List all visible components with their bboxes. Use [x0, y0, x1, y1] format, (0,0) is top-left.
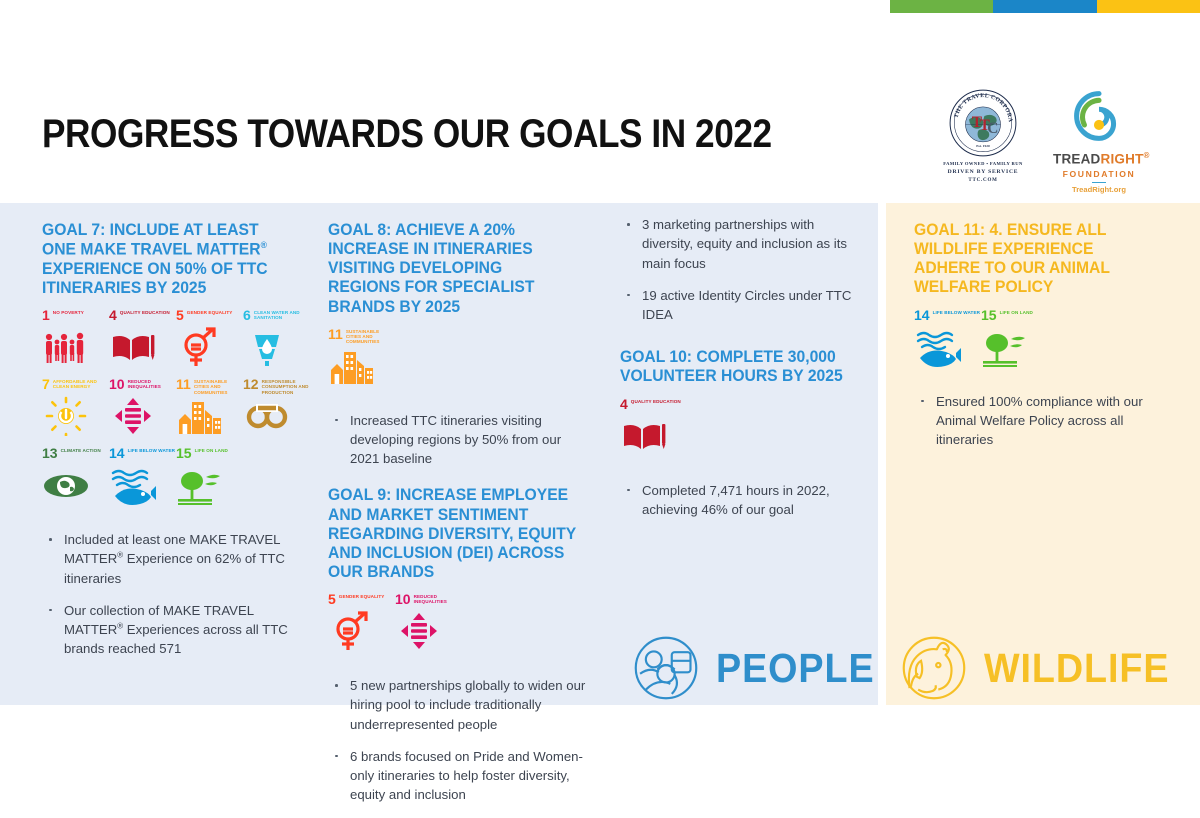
wildlife-brand-lockup: WILDLIFE	[898, 632, 1186, 704]
bullet-item: 5 new partnerships globally to widen our…	[328, 676, 590, 734]
goal-7-heading: GOAL 7: INCLUDE AT LEAST ONE MAKE TRAVEL…	[42, 221, 297, 298]
bullet-item: 3 marketing partnerships with diversity,…	[620, 215, 860, 273]
sdg-art-5	[328, 611, 376, 651]
sdg-number-11: 11	[328, 328, 343, 340]
ttc-established: Est. 1920	[976, 144, 990, 148]
treadright-word-1: TREAD	[1053, 152, 1101, 167]
logo-group: T T C THE TRAVEL CORPORATION Est. 1920 F…	[939, 88, 1145, 194]
ttc-tagline-2: DRIVEN BY SERVICE	[939, 168, 1027, 178]
sdg-icon-12: 12RESPONSIBLE CONSUMPTION AND PRODUCTION	[243, 378, 310, 436]
sdg-icon-5: 5GENDER EQUALITY	[176, 309, 243, 367]
sdg-art-5	[176, 327, 224, 367]
sdg-label-4: QUALITY EDUCATION	[120, 309, 170, 315]
treadright-swirl-icon	[1071, 88, 1127, 144]
bullet-item: Completed 7,471 hours in 2022, achieving…	[620, 481, 860, 520]
people-column-1: GOAL 7: INCLUDE AT LEAST ONE MAKE TRAVEL…	[42, 203, 310, 672]
wildlife-column: GOAL 11: 4. ENSURE ALL WILDLIFE EXPERIEN…	[914, 203, 1166, 462]
sdg-art-15	[981, 327, 1029, 367]
goal-10-bullets: Completed 7,471 hours in 2022, achieving…	[620, 481, 860, 520]
sdg-icon-10: 10REDUCED INEQUALITIES	[109, 378, 176, 436]
bullet-item: Included at least one MAKE TRAVEL MATTER…	[42, 530, 310, 588]
sdg-number-5: 5	[176, 309, 184, 321]
goal-10-sdg-icons: 4QUALITY EDUCATION	[620, 398, 860, 467]
wildlife-brand-label: WILDLIFE	[984, 648, 1169, 689]
sdg-art-14	[914, 327, 962, 367]
sdg-art-11	[328, 346, 376, 386]
sdg-number-13: 13	[42, 447, 58, 459]
sdg-label-11: SUSTAINABLE CITIES AND COMMUNITIES	[346, 328, 395, 345]
sdg-number-5: 5	[328, 593, 336, 605]
people-column-2: GOAL 8: ACHIEVE A 20% INCREASE IN ITINER…	[328, 203, 590, 818]
sdg-art-14	[109, 465, 157, 505]
sdg-art-11	[176, 396, 224, 436]
people-circle-icon	[630, 632, 702, 704]
sdg-art-15	[176, 465, 224, 505]
sdg-art-7	[42, 396, 90, 436]
goal-9-heading: GOAL 9: INCREASE EMPLOYEE AND MARKET SEN…	[328, 486, 577, 582]
bullet-item: 19 active Identity Circles under TTC IDE…	[620, 286, 860, 325]
sdg-icon-11: 11SUSTAINABLE CITIES AND COMMUNITIES	[328, 328, 395, 386]
sdg-label-5: GENDER EQUALITY	[187, 309, 233, 315]
sdg-icon-11: 11SUSTAINABLE CITIES AND COMMUNITIES	[176, 378, 243, 436]
sdg-label-14: LIFE BELOW WATER	[933, 309, 980, 315]
sdg-label-1: NO POVERTY	[53, 309, 84, 315]
sdg-label-10: REDUCED INEQUALITIES	[128, 378, 176, 390]
sdg-label-10: REDUCED INEQUALITIES	[414, 593, 462, 605]
sdg-number-1: 1	[42, 309, 50, 321]
sdg-number-4: 4	[109, 309, 117, 321]
sdg-label-13: CLIMATE ACTION	[61, 447, 101, 453]
treadright-url: TreadRight.org	[1053, 185, 1145, 194]
rhino-circle-icon	[898, 632, 970, 704]
sdg-art-13	[42, 465, 90, 505]
top-color-bar	[890, 0, 1200, 13]
sdg-label-11: SUSTAINABLE CITIES AND COMMUNITIES	[194, 378, 243, 395]
people-brand-lockup: PEOPLE	[630, 632, 888, 704]
sdg-icon-7: 7AFFORDABLE AND CLEAN ENERGY	[42, 378, 109, 436]
sdg-label-6: CLEAN WATER AND SANITATION	[254, 309, 310, 321]
goal-11-bullets: Ensured 100% compliance with our Animal …	[914, 392, 1166, 450]
sdg-icon-6: 6CLEAN WATER AND SANITATION	[243, 309, 310, 367]
sdg-icon-15: 15LIFE ON LAND	[176, 447, 243, 505]
goal-9-bullets: 5 new partnerships globally to widen our…	[328, 676, 590, 805]
goal-8-heading: GOAL 8: ACHIEVE A 20% INCREASE IN ITINER…	[328, 221, 577, 317]
sdg-icon-15: 15LIFE ON LAND	[981, 309, 1048, 367]
sdg-label-5: GENDER EQUALITY	[339, 593, 385, 599]
goal-7-bullets: Included at least one MAKE TRAVEL MATTER…	[42, 530, 310, 659]
treadright-registered: ®	[1144, 151, 1150, 160]
treadright-divider	[1092, 182, 1106, 184]
people-panel: GOAL 7: INCLUDE AT LEAST ONE MAKE TRAVEL…	[0, 203, 878, 705]
topbar-block-yellow	[1097, 0, 1200, 13]
sdg-art-6	[243, 327, 291, 367]
sdg-number-12: 12	[243, 378, 259, 390]
bullet-item: Our collection of MAKE TRAVEL MATTER® Ex…	[42, 601, 310, 659]
sdg-label-4: QUALITY EDUCATION	[631, 398, 681, 404]
topbar-block-blue	[993, 0, 1097, 13]
sdg-number-14: 14	[109, 447, 125, 459]
sdg-art-4	[109, 327, 157, 367]
sdg-icon-4: 4QUALITY EDUCATION	[109, 309, 176, 367]
topbar-block-green	[890, 0, 993, 13]
goal-7-sdg-icons: 1NO POVERTY4QUALITY EDUCATION5GENDER EQU…	[42, 309, 310, 516]
sdg-icon-5: 5GENDER EQUALITY	[328, 593, 395, 651]
sdg-number-6: 6	[243, 309, 251, 321]
sdg-number-11: 11	[176, 378, 191, 390]
sdg-number-7: 7	[42, 378, 50, 390]
sdg-label-15: LIFE ON LAND	[195, 447, 228, 453]
sdg-art-10	[395, 611, 443, 651]
sdg-number-10: 10	[109, 378, 125, 390]
sdg-number-10: 10	[395, 593, 411, 605]
sdg-label-15: LIFE ON LAND	[1000, 309, 1033, 315]
people-brand-label: PEOPLE	[716, 648, 875, 689]
sdg-number-4: 4	[620, 398, 628, 410]
sdg-icon-14: 14LIFE BELOW WATER	[109, 447, 176, 505]
treadright-subtitle: FOUNDATION	[1053, 169, 1145, 179]
sdg-number-15: 15	[176, 447, 192, 459]
bullet-item: Ensured 100% compliance with our Animal …	[914, 392, 1166, 450]
sdg-art-10	[109, 396, 157, 436]
treadright-logo: TREADRIGHT® FOUNDATION TreadRight.org	[1053, 88, 1145, 194]
goal-11-heading: GOAL 11: 4. ENSURE ALL WILDLIFE EXPERIEN…	[914, 221, 1153, 298]
people-column-3: 3 marketing partnerships with diversity,…	[620, 203, 860, 532]
sdg-label-12: RESPONSIBLE CONSUMPTION AND PRODUCTION	[262, 378, 310, 395]
sdg-art-12	[243, 396, 291, 436]
ttc-globe-icon: T T C THE TRAVEL CORPORATION Est. 1920	[948, 88, 1018, 158]
goal-8-bullets: Increased TTC itineraries visiting devel…	[328, 411, 590, 469]
treadright-wordmark: TREADRIGHT®	[1053, 151, 1145, 167]
page-title: PROGRESS TOWARDS OUR GOALS IN 2022	[42, 112, 772, 157]
sdg-number-15: 15	[981, 309, 997, 321]
sdg-art-1	[42, 327, 90, 367]
sdg-label-7: AFFORDABLE AND CLEAN ENERGY	[53, 378, 109, 390]
ttc-logo: T T C THE TRAVEL CORPORATION Est. 1920 F…	[939, 88, 1027, 186]
goal-9-continued-bullets: 3 marketing partnerships with diversity,…	[620, 215, 860, 324]
ttc-tagline-1: FAMILY OWNED • FAMILY RUN	[939, 160, 1027, 168]
sdg-number-14: 14	[914, 309, 930, 321]
sdg-icon-13: 13CLIMATE ACTION	[42, 447, 109, 505]
sdg-art-4	[620, 416, 668, 456]
goal-9-sdg-icons: 5GENDER EQUALITY10REDUCED INEQUALITIES	[328, 593, 590, 662]
sdg-icon-14: 14LIFE BELOW WATER	[914, 309, 981, 367]
ttc-tagline-3: TTC.COM	[939, 177, 1027, 186]
goal-10-heading: GOAL 10: COMPLETE 30,000 VOLUNTEER HOURS…	[620, 348, 848, 386]
sdg-icon-4: 4QUALITY EDUCATION	[620, 398, 687, 456]
goal-8-sdg-icons: 11SUSTAINABLE CITIES AND COMMUNITIES	[328, 328, 590, 397]
wildlife-panel: GOAL 11: 4. ENSURE ALL WILDLIFE EXPERIEN…	[886, 203, 1200, 705]
treadright-word-2: RIGHT	[1101, 152, 1144, 167]
svg-text:C: C	[987, 120, 998, 137]
sdg-icon-1: 1NO POVERTY	[42, 309, 109, 367]
sdg-icon-10: 10REDUCED INEQUALITIES	[395, 593, 462, 651]
goal-11-sdg-icons: 14LIFE BELOW WATER15LIFE ON LAND	[914, 309, 1166, 378]
bullet-item: Increased TTC itineraries visiting devel…	[328, 411, 590, 469]
sdg-label-14: LIFE BELOW WATER	[128, 447, 175, 453]
